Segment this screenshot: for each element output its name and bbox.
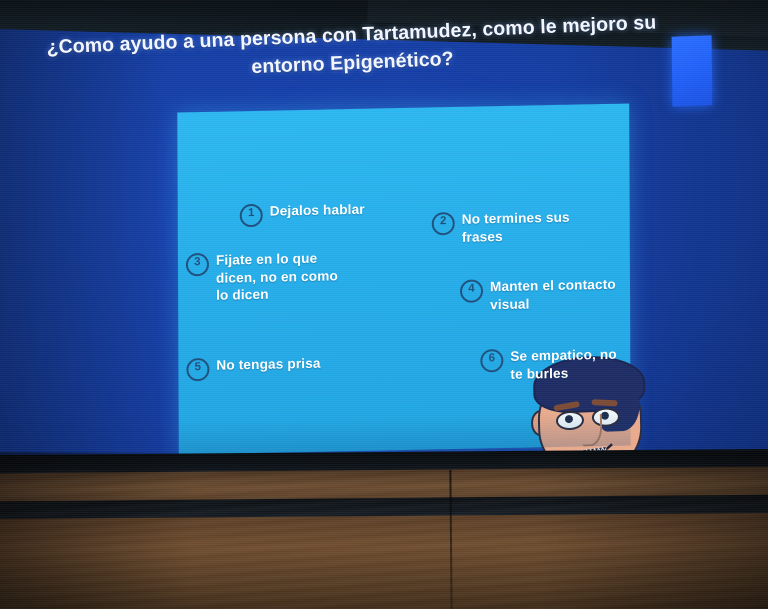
tip-text-6: Se empatico, no te burles — [510, 346, 620, 384]
tip-text-4: Manten el contacto visual — [490, 276, 628, 314]
tip-text-1: Dejalos hablar — [270, 201, 365, 221]
tip-number-badge-3: 3 — [186, 253, 209, 276]
tip-item-5: 5 No tengas prisa — [186, 354, 356, 381]
tip-text-5: No tengas prisa — [216, 355, 320, 375]
tip-text-2: No termines sus frases — [462, 208, 612, 246]
tip-item-4: 4 Manten el contacto visual — [460, 276, 628, 315]
desk-vignette — [0, 452, 768, 609]
tip-item-2: 2 No termines sus frases — [432, 208, 612, 247]
panel-inner: 1 Dejalos hablar 2 No termines sus frase… — [177, 103, 630, 454]
character-right-eyebrow — [591, 399, 617, 406]
tip-text-3: Fijate en lo que dicen, no en como lo di… — [216, 249, 346, 305]
tip-item-6: 6 Se empatico, no te burles — [480, 346, 620, 384]
tip-number-badge-4: 4 — [460, 279, 483, 302]
slide-content-panel: 1 Dejalos hablar 2 No termines sus frase… — [177, 103, 630, 454]
screenshot-root: ¿Como ayudo a una persona con Tartamudez… — [0, 0, 768, 609]
accent-rectangle — [672, 35, 713, 107]
tip-item-3: 3 Fijate en lo que dicen, no en como lo … — [186, 249, 346, 305]
tip-number-badge-5: 5 — [186, 358, 209, 381]
tip-number-badge-6: 6 — [480, 349, 503, 372]
tip-number-badge-1: 1 — [240, 204, 263, 227]
tip-number-badge-2: 2 — [432, 212, 455, 235]
tip-item-1: 1 Dejalos hablar — [240, 200, 390, 227]
